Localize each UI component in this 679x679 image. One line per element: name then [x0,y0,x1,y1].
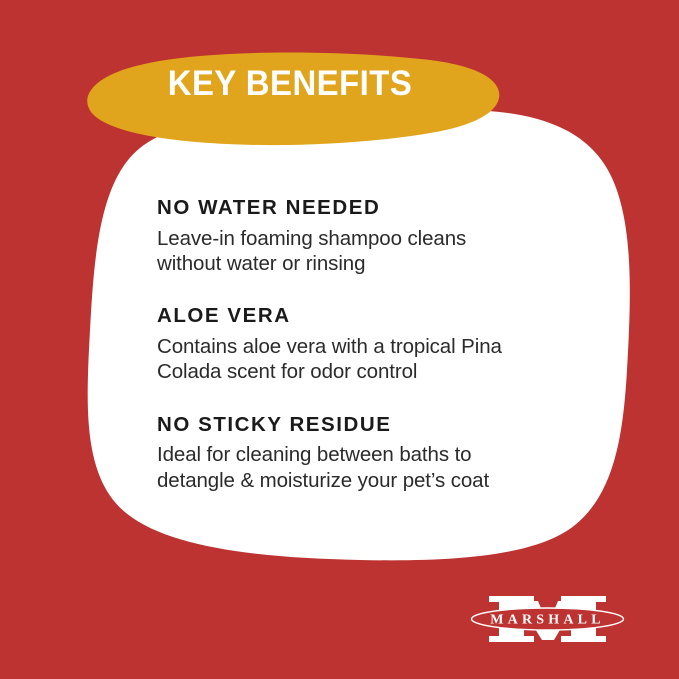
benefit-heading: ALOE VERA [157,304,607,328]
benefit-item-aloe-vera: ALOE VERA Contains aloe vera with a trop… [157,304,607,384]
benefit-heading: NO STICKY RESIDUE [157,413,607,437]
benefit-body: Contains aloe vera with a tropical Pina … [157,334,607,385]
benefit-heading: NO WATER NEEDED [157,196,607,220]
benefit-item-no-sticky-residue: NO STICKY RESIDUE Ideal for cleaning bet… [157,413,607,493]
product-benefits-card: KEY BENEFITS NO WATER NEEDED Leave-in fo… [0,0,679,679]
marshall-logo-mark: MARSHALL [470,592,625,646]
benefit-body: Ideal for cleaning between baths to deta… [157,442,607,493]
benefit-body: Leave-in foaming shampoo cleans without … [157,226,607,277]
marshall-logo: MARSHALL [470,592,625,646]
benefit-item-no-water-needed: NO WATER NEEDED Leave-in foaming shampoo… [157,196,607,276]
benefits-list: NO WATER NEEDED Leave-in foaming shampoo… [157,196,607,493]
logo-wordmark: MARSHALL [490,613,605,628]
banner-title: KEY BENEFITS [17,66,562,101]
